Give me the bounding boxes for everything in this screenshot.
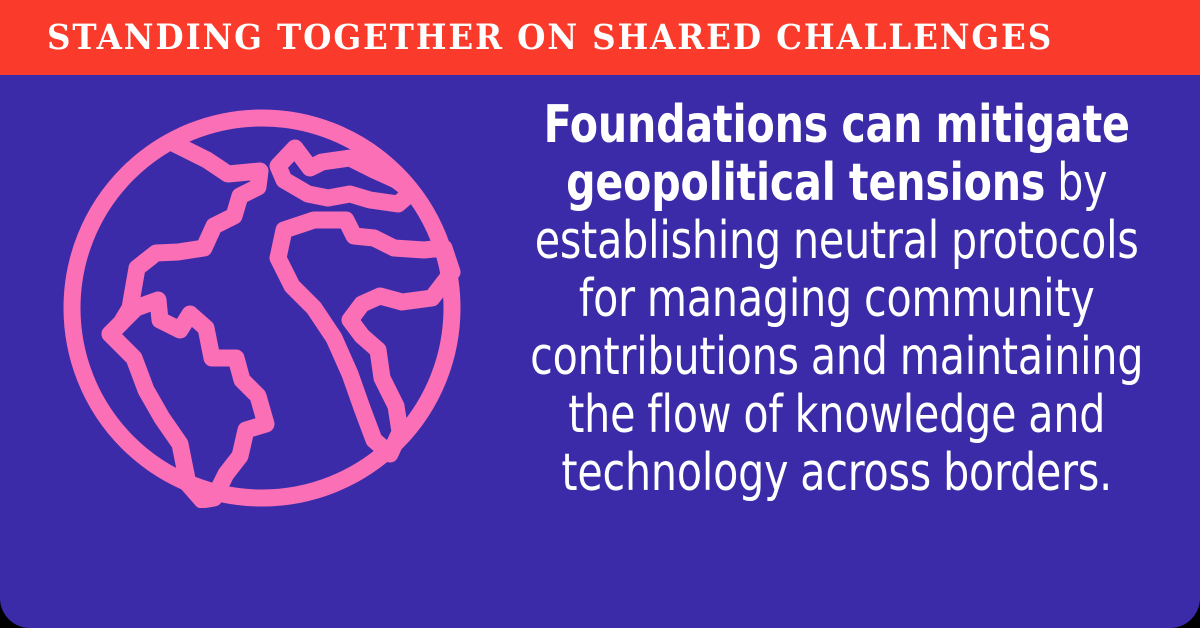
banner-title: STANDING TOGETHER ON SHARED CHALLENGES [47,20,1053,55]
globe-icon-svg [62,108,462,508]
social-quote-card: STANDING TOGETHER ON SHARED CHALLENGES F… [0,0,1200,628]
quote-text: Foundations can mitigate geopolitical te… [523,97,1150,503]
globe-landmass-south-america [110,300,266,500]
header-banner: STANDING TOGETHER ON SHARED CHALLENGES [0,0,1200,75]
card-body: Foundations can mitigate geopolitical te… [0,75,1200,628]
globe-icon [62,108,462,508]
globe-landmass-europe [278,148,412,204]
quote-emphasis: Foundations can mitigate geopolitical te… [544,95,1130,213]
